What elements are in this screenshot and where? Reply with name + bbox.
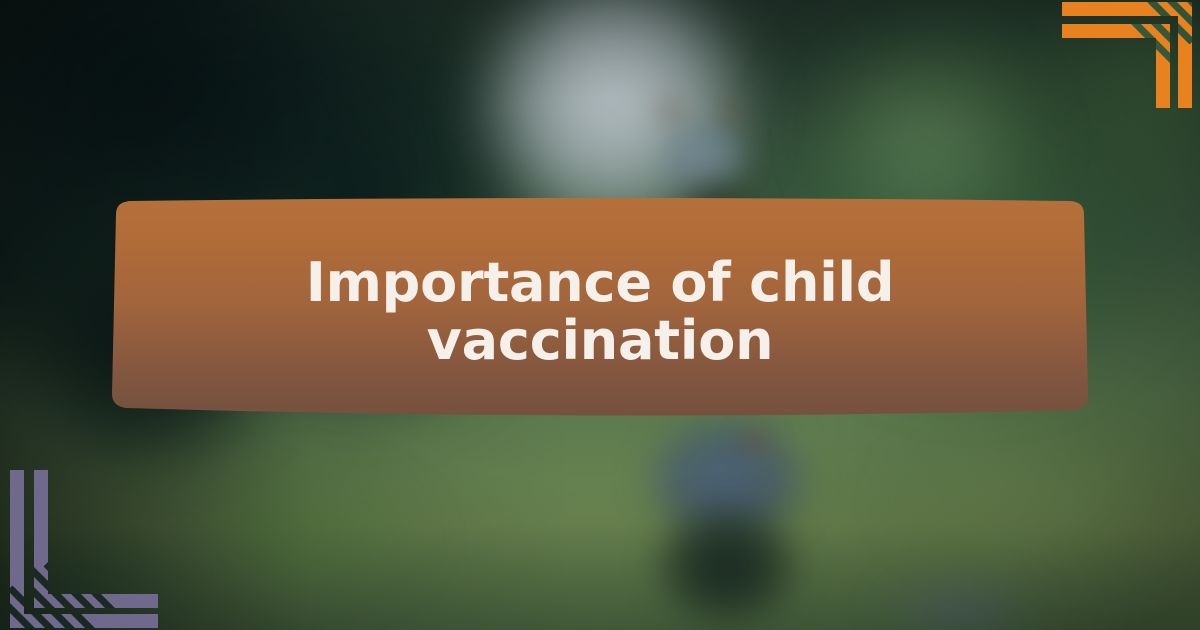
poster-title: Importance of child vaccination: [98, 198, 1102, 426]
corner-ornament-bottom-left: [0, 460, 160, 630]
corner-ornament-bottom-left-graphic: [0, 460, 160, 630]
corner-ornament-top-right: [1040, 0, 1200, 110]
corner-ornament-top-right-graphic: [1040, 0, 1200, 110]
title-banner: Importance of child vaccination: [98, 198, 1102, 426]
poster-canvas: Importance of child vaccination: [0, 0, 1200, 630]
